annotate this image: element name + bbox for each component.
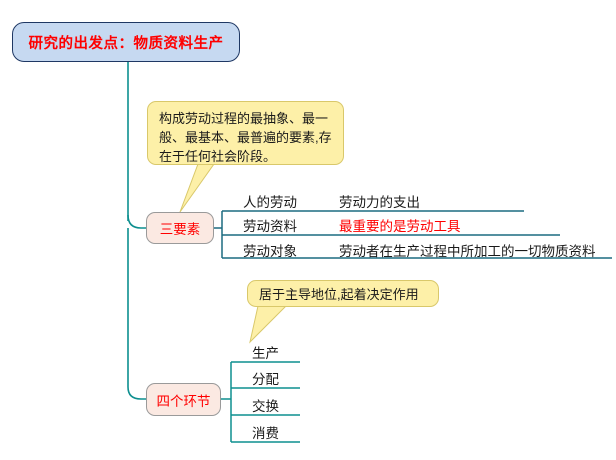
list-item-label: 分配 [252, 372, 279, 387]
mindmap-canvas: 研究的出发点：物质资料生产 构成劳动过程的最抽象、最一般、最基本、最普遍的要素,… [0, 0, 616, 460]
branch-node-four-links[interactable]: 四个环节 [146, 383, 221, 416]
row-term: 劳动对象 [243, 244, 297, 259]
table-row[interactable]: 人的劳动 [243, 191, 297, 211]
row-term: 劳动资料 [243, 219, 297, 234]
connector-layer [0, 0, 616, 460]
list-item[interactable]: 分配 [252, 368, 279, 388]
row-desc: 最重要的是劳动工具 [339, 219, 461, 234]
connector-to-four-links [128, 228, 146, 399]
callout-one-tail [180, 164, 214, 212]
callout-two-text: 居于主导地位,起着决定作用 [259, 284, 419, 303]
list-item[interactable]: 生产 [252, 342, 279, 362]
row-term: 人的劳动 [243, 195, 297, 210]
connector-to-three-elements [128, 215, 146, 228]
row-desc-cell[interactable]: 劳动者在生产过程中所加工的一切物质资料 [339, 240, 596, 260]
callout-one-text: 构成劳动过程的最抽象、最一般、最基本、最普遍的要素,存在于任何社会阶段。 [159, 111, 332, 164]
row-desc: 劳动者在生产过程中所加工的一切物质资料 [339, 244, 596, 259]
table-row[interactable]: 劳动资料 [243, 215, 297, 235]
row-desc: 劳动力的支出 [339, 195, 420, 210]
list-item-label: 消费 [252, 426, 279, 441]
table-row[interactable]: 劳动对象 [243, 240, 297, 260]
callout-two-tail [250, 306, 286, 342]
root-node-label: 研究的出发点：物质资料生产 [29, 32, 224, 53]
branch-node-three-elements[interactable]: 三要素 [146, 212, 214, 244]
list-item[interactable]: 交换 [252, 395, 279, 415]
row-desc-cell[interactable]: 劳动力的支出 [339, 191, 420, 211]
list-item-label: 生产 [252, 346, 279, 361]
list-item[interactable]: 消费 [252, 422, 279, 442]
list-item-label: 交换 [252, 399, 279, 414]
root-node[interactable]: 研究的出发点：物质资料生产 [12, 22, 240, 62]
row-desc-cell[interactable]: 最重要的是劳动工具 [339, 215, 461, 235]
callout-production-note[interactable]: 居于主导地位,起着决定作用 [247, 280, 439, 307]
branch-four-label: 四个环节 [157, 390, 211, 410]
branch-three-label: 三要素 [160, 218, 201, 238]
callout-three-elements-note[interactable]: 构成劳动过程的最抽象、最一般、最基本、最普遍的要素,存在于任何社会阶段。 [147, 101, 344, 165]
